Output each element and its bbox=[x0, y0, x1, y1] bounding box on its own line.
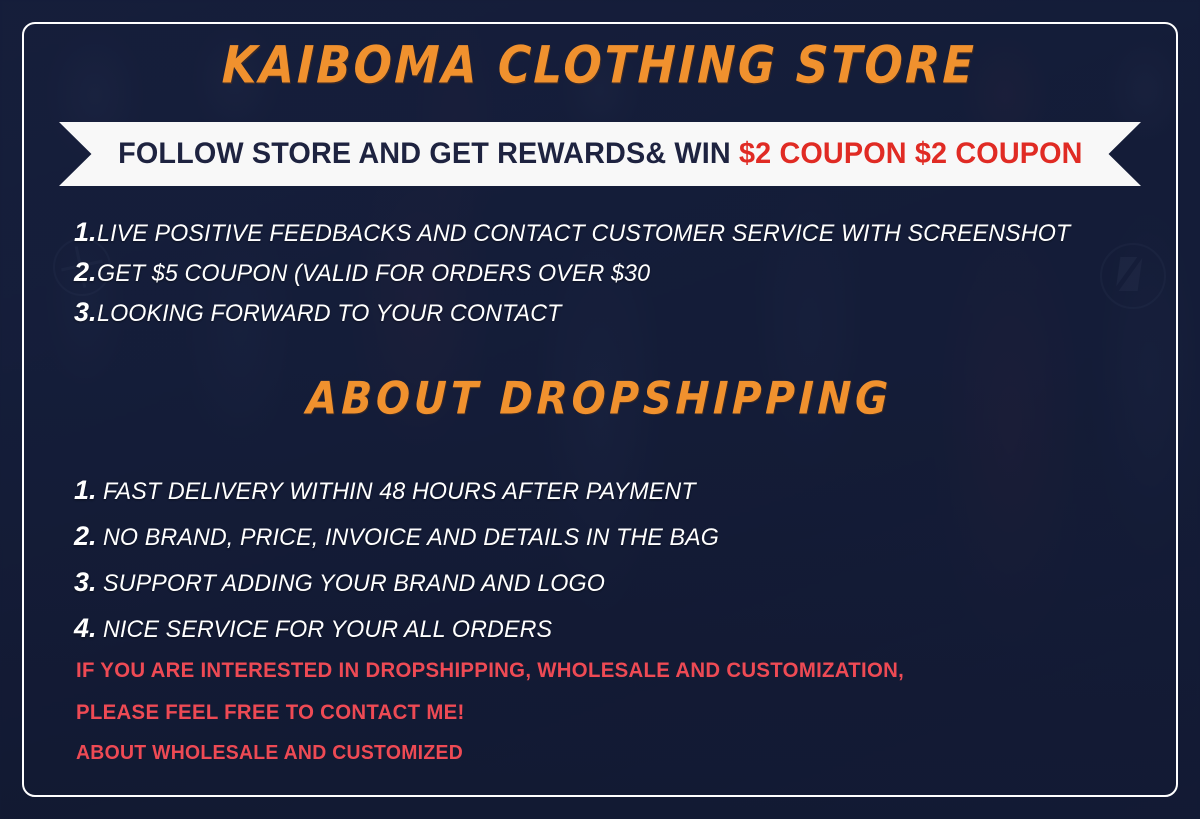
rewards-steps-list: 1. LIVE POSITIVE FEEDBACKS AND CONTACT C… bbox=[74, 213, 1100, 333]
list-item-number: 4. bbox=[74, 606, 97, 650]
rewards-ribbon: FOLLOW STORE AND GET REWARDS& WIN $2 COU… bbox=[59, 122, 1141, 186]
list-item: 4. NICE SERVICE FOR YOUR ALL ORDERS bbox=[74, 606, 738, 652]
list-item: 1. LIVE POSITIVE FEEDBACKS AND CONTACT C… bbox=[74, 213, 1100, 253]
list-item: 1. FAST DELIVERY WITHIN 48 HOURS AFTER P… bbox=[74, 468, 738, 514]
list-item-number: 2. bbox=[74, 514, 97, 558]
store-title: KAIBOMA CLOTHING STORE bbox=[0, 36, 1200, 95]
list-item-label: LIVE POSITIVE FEEDBACKS AND CONTACT CUST… bbox=[97, 215, 1070, 253]
list-item-label: FAST DELIVERY WITHIN 48 HOURS AFTER PAYM… bbox=[103, 470, 696, 514]
list-item-number: 1. bbox=[74, 213, 97, 251]
list-item-label: NICE SERVICE FOR YOUR ALL ORDERS bbox=[103, 608, 552, 652]
footer-line-1: IF YOU ARE INTERESTED IN DROPSHIPPING, W… bbox=[76, 650, 904, 692]
rewards-ribbon-text: FOLLOW STORE AND GET REWARDS& WIN $2 COU… bbox=[118, 137, 1083, 171]
banner-content: KAIBOMA CLOTHING STORE FOLLOW STORE AND … bbox=[0, 0, 1200, 819]
dropshipping-benefits-list: 1. FAST DELIVERY WITHIN 48 HOURS AFTER P… bbox=[74, 468, 738, 652]
list-item: 3. SUPPORT ADDING YOUR BRAND AND LOGO bbox=[74, 560, 738, 606]
list-item-number: 3. bbox=[74, 293, 97, 331]
ribbon-lead-text: FOLLOW STORE AND GET REWARDS& WIN bbox=[118, 137, 739, 170]
list-item-number: 3. bbox=[74, 560, 97, 604]
contact-footer: IF YOU ARE INTERESTED IN DROPSHIPPING, W… bbox=[76, 650, 930, 772]
list-item-label: GET $5 COUPON (VALID FOR ORDERS OVER $30 bbox=[97, 255, 650, 293]
list-item: 3. LOOKING FORWARD TO YOUR CONTACT bbox=[74, 293, 1100, 333]
about-dropshipping-title: ABOUT DROPSHIPPING bbox=[0, 373, 1200, 425]
footer-line-3: ABOUT WHOLESALE AND CUSTOMIZED bbox=[76, 734, 904, 772]
list-item-number: 1. bbox=[74, 468, 97, 512]
list-item: 2. GET $5 COUPON (VALID FOR ORDERS OVER … bbox=[74, 253, 1100, 293]
ribbon-coupon-highlight: $2 COUPON $2 COUPON bbox=[739, 137, 1083, 170]
footer-line-2: PLEASE FEEL FREE TO CONTACT ME! bbox=[76, 692, 904, 734]
list-item-label: NO BRAND, PRICE, INVOICE AND DETAILS IN … bbox=[103, 516, 719, 560]
promo-banner: KAIBOMA CLOTHING STORE FOLLOW STORE AND … bbox=[0, 0, 1200, 819]
list-item-label: LOOKING FORWARD TO YOUR CONTACT bbox=[97, 295, 562, 333]
list-item: 2. NO BRAND, PRICE, INVOICE AND DETAILS … bbox=[74, 514, 738, 560]
list-item-label: SUPPORT ADDING YOUR BRAND AND LOGO bbox=[103, 562, 605, 606]
list-item-number: 2. bbox=[74, 253, 97, 291]
